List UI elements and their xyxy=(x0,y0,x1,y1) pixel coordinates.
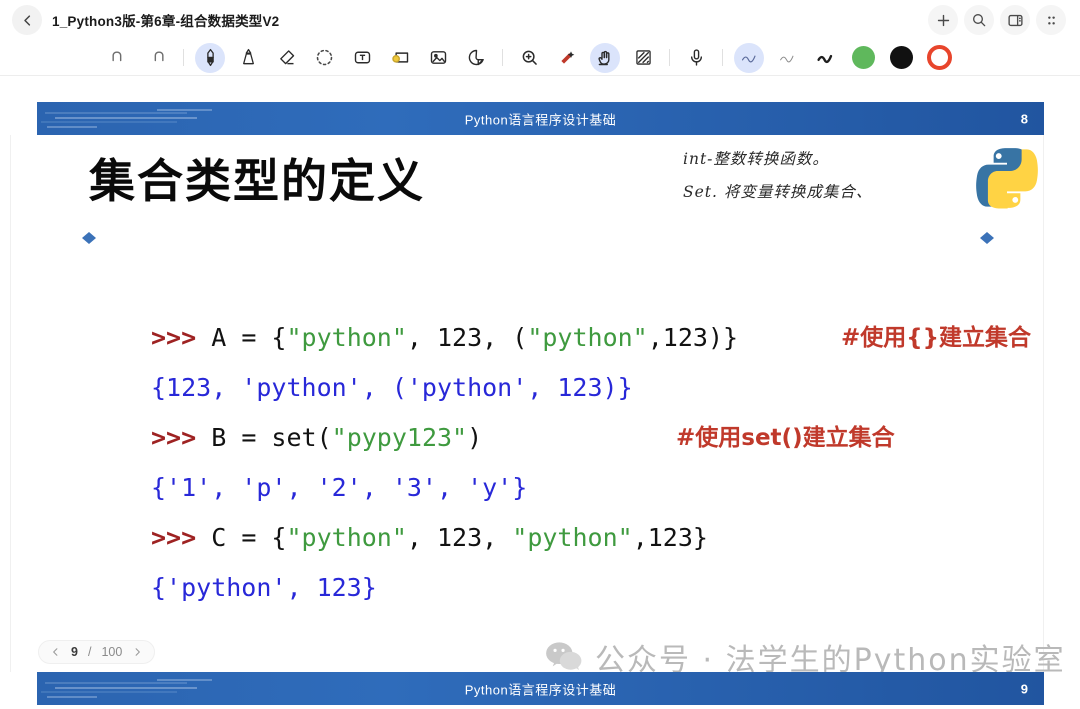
code-seg: C = { xyxy=(211,523,286,552)
code-seg: ,123} xyxy=(633,523,708,552)
top-bar-actions xyxy=(928,5,1066,35)
total-pages: 100 xyxy=(101,645,122,659)
stroke-width-medium[interactable] xyxy=(772,43,802,73)
code-seg-string: "pypy123" xyxy=(332,423,467,452)
image-tool[interactable] xyxy=(423,43,453,73)
slide-canvas[interactable]: Python语言程序设计基础 8 集合类型的定义 int-整数转换函 xyxy=(0,77,1080,709)
marker-icon xyxy=(238,47,259,68)
page-separator: / xyxy=(88,645,91,659)
app-root: 1_Python3版-第6章-组合数据类型V2 xyxy=(0,0,1080,709)
stroke-width-thin[interactable] xyxy=(734,43,764,73)
grid-menu-icon xyxy=(1043,12,1060,29)
chevron-left-icon xyxy=(50,646,61,658)
undo-icon xyxy=(109,48,129,68)
panel-layout-icon xyxy=(1007,12,1024,29)
handwritten-line-2: Set. 将变量转换成集合、 xyxy=(683,176,983,209)
next-page-button[interactable] xyxy=(132,646,143,658)
stroke-medium-icon xyxy=(776,47,798,69)
add-icon xyxy=(935,12,952,29)
code-seg: , 123, xyxy=(407,523,512,552)
hatch-fill-icon xyxy=(633,47,654,68)
redo-button[interactable] xyxy=(142,43,172,73)
toolbar-divider-1 xyxy=(183,49,184,66)
prev-page-button[interactable] xyxy=(50,646,61,658)
python-logo xyxy=(971,143,1043,213)
code-seg: ) xyxy=(467,423,482,452)
handwritten-line-1: int-整数转换函数。 xyxy=(683,143,983,176)
slide-footer-label: Python语言程序设计基础 xyxy=(37,679,1044,698)
code-seg: B = set( xyxy=(211,423,331,452)
image-icon xyxy=(428,47,449,68)
code-line-6: {'python', 123} xyxy=(151,563,1080,613)
slide-header-bar: Python语言程序设计基础 8 xyxy=(37,102,1044,135)
slide-footer-bar: Python语言程序设计基础 9 xyxy=(37,672,1044,705)
zoom-in-tool[interactable] xyxy=(514,43,544,73)
code-seg-string: "python" xyxy=(286,323,406,352)
prompt-marker: >>> xyxy=(151,323,211,352)
code-line-5: >>> C = {"python", 123, "python",123} xyxy=(151,513,1080,563)
sticky-note-tool[interactable] xyxy=(385,43,415,73)
green-circle-icon xyxy=(852,46,875,69)
code-line-4: {'1', 'p', '2', '3', 'y'} xyxy=(151,463,1080,513)
color-swatch-red[interactable] xyxy=(924,43,954,73)
code-output: {'1', 'p', '2', '3', 'y'} xyxy=(151,473,527,502)
panel-layout-button[interactable] xyxy=(1000,5,1030,35)
code-comment: #使用set()建立集合 xyxy=(676,413,895,463)
code-seg-string: "python" xyxy=(512,523,632,552)
shape-sticker-icon xyxy=(466,47,487,68)
code-seg-string: "python" xyxy=(286,523,406,552)
color-swatch-green[interactable] xyxy=(848,43,878,73)
chevron-right-icon xyxy=(132,646,143,658)
stroke-width-thick[interactable] xyxy=(810,43,840,73)
code-line-2: {123, 'python', ('python', 123)} xyxy=(151,363,1080,413)
undo-button[interactable] xyxy=(104,43,134,73)
black-circle-icon xyxy=(890,46,913,69)
current-page: 9 xyxy=(71,645,78,659)
lasso-select-tool[interactable] xyxy=(309,43,339,73)
document-title: 1_Python3版-第6章-组合数据类型V2 xyxy=(52,10,279,30)
code-seg-string: "python" xyxy=(527,323,647,352)
add-button[interactable] xyxy=(928,5,958,35)
stroke-thick-icon xyxy=(814,47,836,69)
code-seg: , 123, ( xyxy=(407,323,527,352)
zoom-in-icon xyxy=(519,47,540,68)
code-seg: A = { xyxy=(211,323,286,352)
search-button[interactable] xyxy=(964,5,994,35)
hatch-fill-tool[interactable] xyxy=(628,43,658,73)
text-tool[interactable] xyxy=(347,43,377,73)
chevron-left-icon xyxy=(20,13,35,28)
red-circle-selected-icon xyxy=(927,45,952,70)
prompt-marker: >>> xyxy=(151,423,211,452)
back-button[interactable] xyxy=(12,5,42,35)
magic-wand-icon xyxy=(557,47,578,68)
top-bar: 1_Python3版-第6章-组合数据类型V2 xyxy=(0,0,1080,40)
shape-sticker-tool[interactable] xyxy=(461,43,491,73)
pen-tool[interactable] xyxy=(195,43,225,73)
eraser-tool[interactable] xyxy=(271,43,301,73)
marker-tool[interactable] xyxy=(233,43,263,73)
code-comment: #使用{}建立集合 xyxy=(841,313,1031,363)
slide-header-label: Python语言程序设计基础 xyxy=(37,109,1044,128)
title-underline xyxy=(79,230,997,246)
code-output: {'python', 123} xyxy=(151,573,377,602)
prompt-marker: >>> xyxy=(151,523,211,552)
code-output: {123, 'python', ('python', 123)} xyxy=(151,373,633,402)
toolbar-divider-3 xyxy=(669,49,670,66)
slide-content: 集合类型的定义 int-整数转换函数。 Set. 将变量转换成集合、 xyxy=(10,135,1044,672)
sticky-note-icon xyxy=(390,47,411,68)
slide-title: 集合类型的定义 xyxy=(89,145,425,211)
code-block: >>> A = {"python", 123, ("python",123)} … xyxy=(151,313,1080,613)
redo-icon xyxy=(147,48,167,68)
page-navigator[interactable]: 9/100 xyxy=(38,640,155,664)
text-icon xyxy=(352,47,373,68)
slide-footer-page: 9 xyxy=(1021,681,1028,696)
code-seg: ,123)} xyxy=(648,323,738,352)
slide-header-page: 8 xyxy=(1021,111,1028,126)
grid-menu-button[interactable] xyxy=(1036,5,1066,35)
magic-wand-tool[interactable] xyxy=(552,43,582,73)
lasso-select-icon xyxy=(314,47,335,68)
toolbar-divider-4 xyxy=(722,49,723,66)
microphone-icon xyxy=(686,47,707,68)
handwritten-annotation: int-整数转换函数。 Set. 将变量转换成集合、 xyxy=(683,143,983,209)
hand-pan-tool[interactable] xyxy=(590,43,620,73)
toolbar-divider-2 xyxy=(502,49,503,66)
search-icon xyxy=(971,12,987,28)
pen-icon xyxy=(200,47,221,68)
hand-pan-icon xyxy=(595,47,616,68)
color-swatch-black[interactable] xyxy=(886,43,916,73)
drawing-toolbar xyxy=(0,40,1080,76)
microphone-tool[interactable] xyxy=(681,43,711,73)
eraser-icon xyxy=(276,47,297,68)
code-line-3: >>> B = set("pypy123") #使用set()建立集合 xyxy=(151,413,1080,463)
code-line-1: >>> A = {"python", 123, ("python",123)} … xyxy=(151,313,1080,363)
stroke-thin-icon xyxy=(738,47,760,69)
